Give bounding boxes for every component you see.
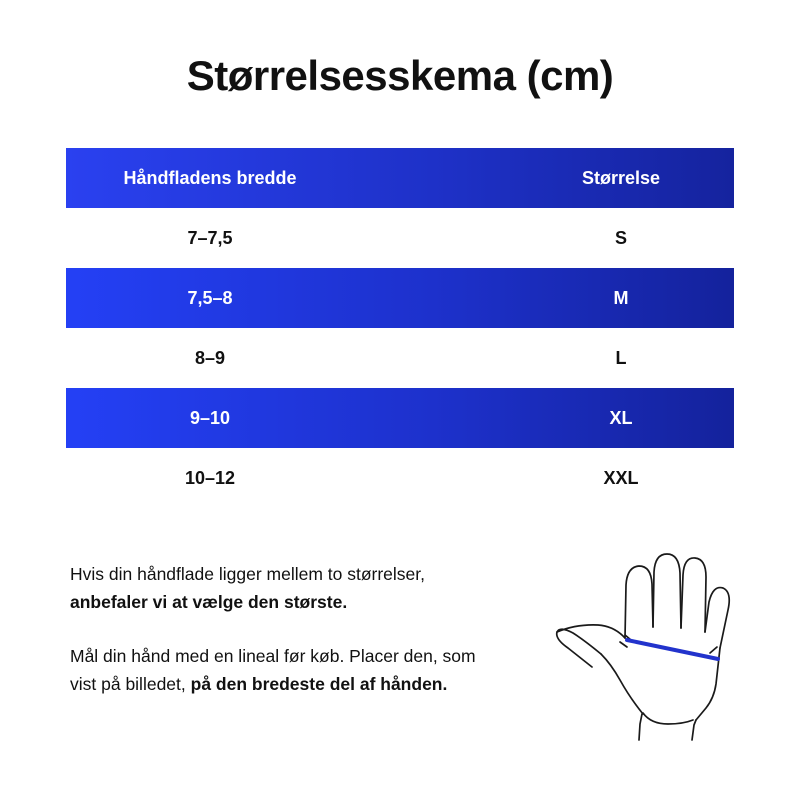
knuckle-crease-little: [710, 647, 717, 653]
instruction-paragraph-2: Mål din hånd med en lineal før køb. Plac…: [70, 642, 490, 698]
cell-size: XXL: [508, 468, 734, 489]
ring-finger-outline: [681, 558, 706, 632]
table-header-row: Håndfladens bredde Størrelse: [66, 148, 734, 208]
wrist-left-line: [639, 714, 642, 740]
column-header-size: Størrelse: [508, 168, 734, 189]
cell-palm-width: 7–7,5: [66, 228, 354, 249]
index-finger-outline: [625, 566, 653, 638]
page-title: Størrelsesskema (cm): [0, 52, 800, 100]
cell-size: M: [508, 288, 734, 309]
thumb-top-edge: [557, 625, 625, 638]
table-row: 8–9 L: [66, 328, 734, 388]
instructions-block: Hvis din håndflade ligger mellem to stør…: [70, 560, 490, 724]
instruction-1-text: Hvis din håndflade ligger mellem to stør…: [70, 564, 425, 584]
wrist-right-line: [692, 720, 696, 740]
cell-size: XL: [508, 408, 734, 429]
column-header-palm-width: Håndfladens bredde: [66, 168, 354, 189]
little-finger-outline: [705, 588, 729, 648]
table-row: 10–12 XXL: [66, 448, 734, 508]
hand-measurement-illustration: [548, 528, 768, 778]
cell-size: L: [508, 348, 734, 369]
cell-palm-width: 8–9: [66, 348, 354, 369]
palm-left-lower-edge: [601, 654, 643, 714]
cell-palm-width: 7,5–8: [66, 288, 354, 309]
thumb-outline: [557, 629, 601, 667]
table-row: 9–10 XL: [66, 388, 734, 448]
wrist-bottom-curve: [643, 713, 693, 724]
instruction-1-emphasis: anbefaler vi at vælge den største.: [70, 592, 347, 612]
palm-width-measure-line: [627, 640, 718, 659]
instruction-2-emphasis: på den bredeste del af hånden.: [191, 674, 448, 694]
cell-palm-width: 10–12: [66, 468, 354, 489]
instruction-paragraph-1: Hvis din håndflade ligger mellem to stør…: [70, 560, 490, 616]
table-row: 7–7,5 S: [66, 208, 734, 268]
cell-palm-width: 9–10: [66, 408, 354, 429]
cell-size: S: [508, 228, 734, 249]
middle-finger-outline: [653, 554, 681, 628]
thumb-web-crease: [620, 642, 627, 647]
size-chart-table: Håndfladens bredde Størrelse 7–7,5 S 7,5…: [66, 148, 734, 508]
table-row: 7,5–8 M: [66, 268, 734, 328]
